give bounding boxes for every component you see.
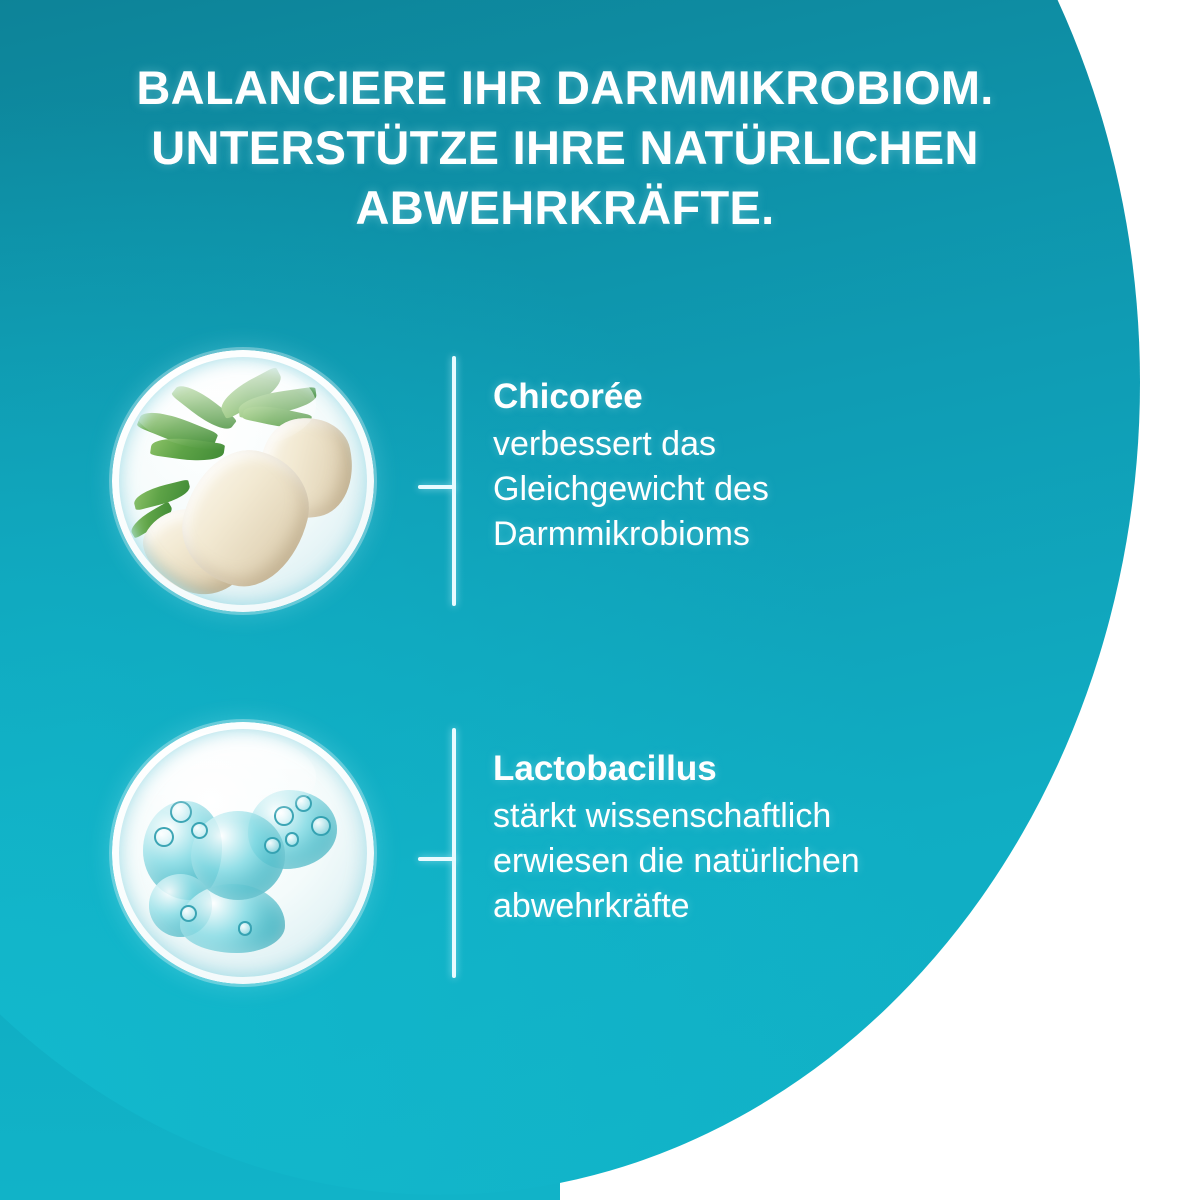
connector-vertical-line [452, 728, 456, 978]
bubble-icon [238, 921, 252, 935]
headline-line-1: BALANCIERE IHR DARMMIKROBIOM. [60, 58, 1070, 118]
bubble-icon [191, 822, 208, 839]
feature-connector-chicoree [374, 350, 470, 612]
bubble-icon [274, 806, 294, 826]
feature-desc-line: verbessert das [493, 422, 769, 467]
feature-description-lactobacillus: stärkt wissenschaftlich erwiesen die nat… [493, 794, 860, 929]
chicory-petri-dish-image [112, 350, 374, 612]
feature-description-chicoree: verbessert das Gleichgewicht des Darmmik… [493, 422, 769, 557]
feature-item-lactobacillus: Lactobacillus stärkt wissenschaftlich er… [112, 722, 860, 984]
bubble-icon [285, 832, 299, 846]
feature-text-chicoree: Chicorée verbessert das Gleichgewicht de… [493, 350, 769, 557]
connector-horizontal-tick [418, 485, 456, 489]
headline-line-2: UNTERSTÜTZE IHRE NATÜRLICHEN [60, 118, 1070, 178]
feature-title-chicoree: Chicorée [493, 374, 769, 420]
feature-desc-line: Darmmikrobioms [493, 512, 769, 557]
connector-horizontal-tick [418, 857, 456, 861]
feature-title-lactobacillus: Lactobacillus [493, 746, 860, 792]
bubble-icon [170, 801, 192, 823]
connector-vertical-line [452, 356, 456, 606]
feature-desc-line: abwehrkräfte [493, 884, 860, 929]
page-title: BALANCIERE IHR DARMMIKROBIOM. UNTERSTÜTZ… [60, 58, 1070, 238]
feature-desc-line: stärkt wissenschaftlich [493, 794, 860, 839]
promo-poster: BALANCIERE IHR DARMMIKROBIOM. UNTERSTÜTZ… [0, 0, 1200, 1200]
feature-connector-lactobacillus [374, 722, 470, 984]
bubble-icon [154, 827, 174, 847]
headline-line-3: ABWEHRKRÄFTE. [60, 178, 1070, 238]
feature-desc-line: Gleichgewicht des [493, 467, 769, 512]
feature-desc-line: erwiesen die natürlichen [493, 839, 860, 884]
feature-text-lactobacillus: Lactobacillus stärkt wissenschaftlich er… [493, 722, 860, 929]
lactobacillus-petri-dish-image [112, 722, 374, 984]
feature-item-chicoree: Chicorée verbessert das Gleichgewicht de… [112, 350, 769, 612]
bubble-icon [311, 816, 331, 836]
